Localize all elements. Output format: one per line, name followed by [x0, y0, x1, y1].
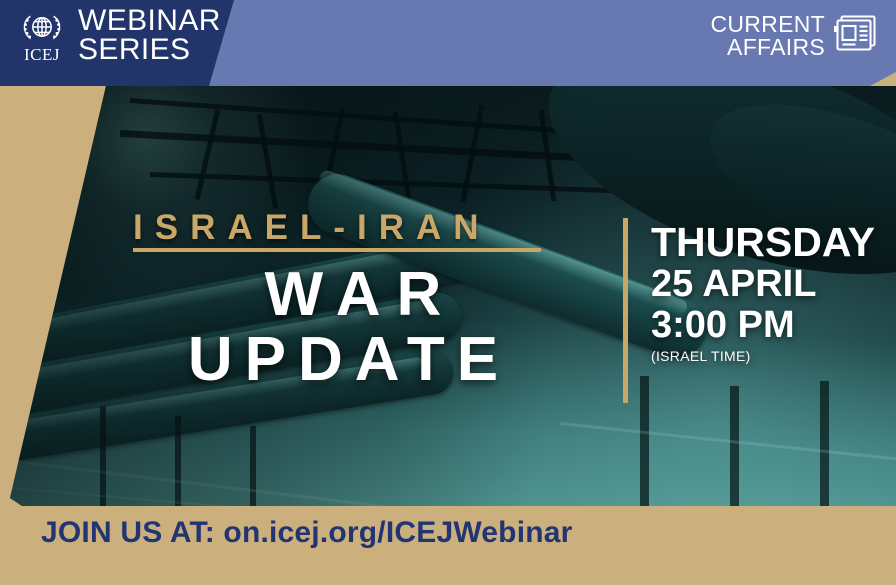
event-day: THURSDAY [651, 222, 875, 264]
footer-cta-link[interactable]: JOIN US AT: on.icej.org/ICEJWebinar [41, 516, 573, 550]
newspaper-icon [834, 12, 880, 59]
webinar-series-title: WEBINAR SERIES [78, 6, 221, 68]
event-time: 3:00 PM [651, 305, 875, 346]
icej-globe-laurel-icon [19, 11, 65, 45]
event-datetime-block: THURSDAY 25 APRIL 3:00 PM (ISRAEL TIME) [651, 222, 875, 364]
icej-logo: ICEJ [14, 11, 70, 63]
category-badge: CURRENT AFFAIRS [710, 12, 880, 59]
brand-line-series: SERIES [78, 35, 221, 64]
icej-acronym: ICEJ [24, 46, 60, 63]
gold-vertical-divider [623, 218, 628, 403]
webinar-promo-poster: ICEJ WEBINAR SERIES CURRENT AFFAIRS [0, 0, 896, 585]
brand-lockup: ICEJ WEBINAR SERIES [14, 6, 221, 68]
event-date: 25 APRIL [651, 264, 875, 305]
brand-line-webinar: WEBINAR [78, 6, 221, 35]
category-line-affairs: AFFAIRS [727, 36, 825, 59]
event-timezone: (ISRAEL TIME) [651, 348, 875, 364]
category-label: CURRENT AFFAIRS [710, 13, 825, 59]
category-line-current: CURRENT [710, 13, 825, 36]
